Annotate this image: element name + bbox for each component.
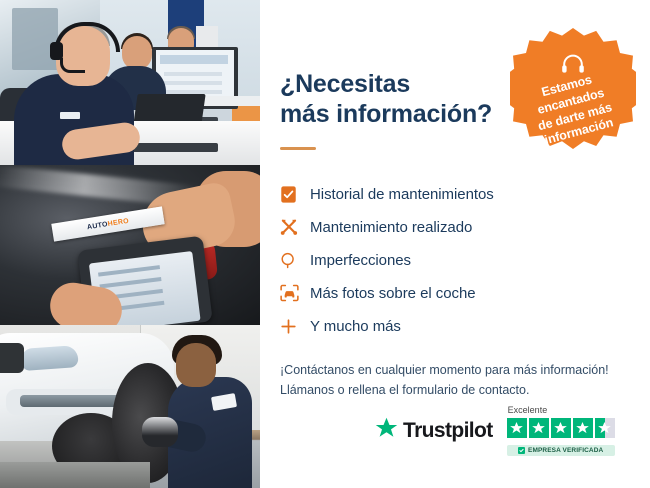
verified-company-badge: EMPRESA VERIFICADA: [507, 445, 615, 456]
agent-two-head: [122, 36, 152, 70]
star-half: [595, 418, 615, 438]
autohero-ruler-label: AUTOHERO: [87, 217, 130, 231]
photo-wheel-inspection: [0, 325, 260, 488]
feature-item-much-more: Y mucho más: [280, 310, 650, 343]
trustpilot-rating: Excelente: [507, 405, 615, 456]
headline-line-2: más información?: [280, 99, 510, 130]
feature-label: Imperfecciones: [310, 252, 411, 269]
verified-check-icon: [518, 447, 525, 454]
content-panel: ¿Necesitas más información? Estamos enca…: [260, 0, 650, 488]
car-lift-platform: [0, 462, 150, 488]
page-title: ¿Necesitas más información?: [280, 69, 510, 130]
trustpilot-logo: Trustpilot: [375, 417, 493, 444]
information-banner: AUTOHERO: [0, 0, 650, 488]
feature-item-maintenance-history: Historial de mantenimientos: [280, 178, 650, 211]
car-scan-icon: [280, 281, 310, 305]
star-filled: [507, 418, 527, 438]
feature-item-more-photos: Más fotos sobre el coche: [280, 277, 650, 310]
contact-copy: ¡Contáctanos en cualquier momento para m…: [280, 360, 625, 401]
photo-car-inspection-ruler: AUTOHERO: [0, 165, 260, 325]
star-filled: [573, 418, 593, 438]
plus-icon: [280, 314, 310, 338]
trustpilot-stars: [507, 418, 615, 438]
feature-item-imperfections: Imperfecciones: [280, 244, 650, 277]
photo-call-center-agents: [0, 0, 260, 165]
star-filled: [551, 418, 571, 438]
clipboard-check-icon: [280, 182, 310, 206]
photo-column: AUTOHERO: [0, 0, 260, 488]
title-divider: [280, 147, 316, 150]
headset-mic-decor: [60, 58, 85, 73]
contact-line-2: Llámanos o rellena el formulario de cont…: [280, 380, 625, 400]
feature-label: Y mucho más: [310, 318, 401, 335]
car-grille: [0, 343, 24, 373]
car-headlight: [21, 345, 78, 371]
headline-line-1: ¿Necesitas: [280, 70, 410, 98]
star-filled: [529, 418, 549, 438]
feature-item-maintenance-done: Mantenimiento realizado: [280, 211, 650, 244]
crossed-tools-icon: [280, 215, 310, 239]
magnifier-icon: [280, 248, 310, 272]
technician-glove: [142, 417, 178, 447]
feature-label: Más fotos sobre el coche: [310, 285, 476, 302]
feature-label: Mantenimiento realizado: [310, 219, 472, 236]
technician-head: [176, 343, 216, 387]
contact-line-1: ¡Contáctanos en cualquier momento para m…: [280, 360, 625, 380]
headset-icon: [561, 54, 585, 74]
trustpilot-wordmark: Trustpilot: [403, 419, 493, 443]
trustpilot-rating-label: Excelente: [508, 405, 548, 415]
feature-list: Historial de mantenimientos Mantenimient…: [280, 178, 650, 343]
feature-label: Historial de mantenimientos: [310, 186, 494, 203]
trustpilot-star-icon: [375, 417, 398, 444]
promo-badge: Estamos encantados de darte más informac…: [510, 28, 636, 154]
verified-company-label: EMPRESA VERIFICADA: [528, 447, 603, 454]
trustpilot-block: Trustpilot Excelente: [375, 405, 615, 456]
agent-name-badge: [60, 112, 80, 119]
